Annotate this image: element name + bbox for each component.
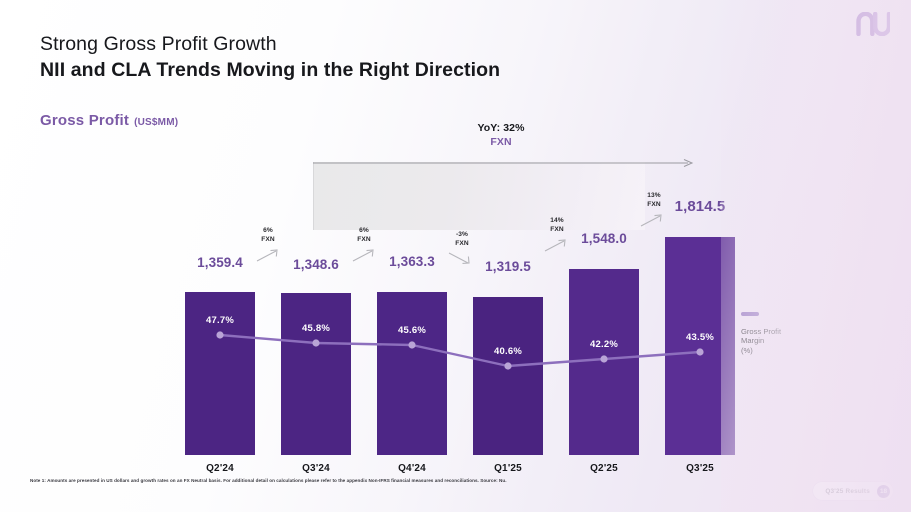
growth-trend-arrow-icon bbox=[313, 158, 698, 168]
gross-profit-chart: 47.7% 45.8% 45.6% 40.6% 42.2% 43.5% 1,35… bbox=[170, 180, 750, 455]
growth-fxn-4: FXN bbox=[537, 226, 577, 235]
growth-arrow-icon-1 bbox=[256, 248, 282, 264]
margin-label-q125: 40.6% bbox=[473, 346, 543, 357]
x-axis-label-q325: Q3'25 bbox=[645, 463, 755, 474]
growth-fxn-1: FXN bbox=[248, 236, 288, 245]
growth-value-1: 6% bbox=[248, 227, 288, 236]
legend-label-line-1: Gross Profit bbox=[741, 327, 807, 337]
x-axis-label-q125: Q1'25 bbox=[453, 463, 563, 474]
growth-annotation-q225-q325: 13% FXN bbox=[634, 192, 674, 209]
growth-arrow-icon-5 bbox=[640, 213, 666, 229]
section-label-unit: (US$MM) bbox=[134, 117, 178, 128]
legend-label-line-3: (%) bbox=[741, 346, 807, 356]
title-line-2: NII and CLA Trends Moving in the Right D… bbox=[40, 57, 500, 83]
margin-label-q424: 45.6% bbox=[377, 325, 447, 336]
growth-fxn-2: FXN bbox=[344, 236, 384, 245]
yoy-callout-sub: FXN bbox=[460, 135, 542, 149]
growth-arrow-icon-4 bbox=[544, 238, 570, 254]
footnote: Note 1: Amounts are presented in US doll… bbox=[30, 477, 650, 484]
growth-arrow-icon-2 bbox=[352, 248, 378, 264]
page-badge[interactable]: Q3'25 Results 18 bbox=[813, 482, 893, 500]
margin-label-q224: 47.7% bbox=[185, 315, 255, 326]
growth-fxn-5: FXN bbox=[634, 201, 674, 210]
section-label-main: Gross Profit bbox=[40, 112, 129, 129]
x-axis-label-q225: Q2'25 bbox=[549, 463, 659, 474]
chart-legend: Gross Profit Margin (%) bbox=[741, 312, 807, 355]
growth-value-2: 6% bbox=[344, 227, 384, 236]
x-axis-label-q224: Q2'24 bbox=[165, 463, 275, 474]
legend-label-line-2: Margin bbox=[741, 336, 807, 346]
growth-value-5: 13% bbox=[634, 192, 674, 201]
slide-canvas: Strong Gross Profit Growth NII and CLA T… bbox=[0, 0, 911, 512]
title-line-1: Strong Gross Profit Growth bbox=[40, 32, 500, 57]
growth-annotation-q224-q324: 6% FXN bbox=[248, 227, 288, 244]
growth-annotation-q424-q125: -3% FXN bbox=[442, 231, 482, 248]
growth-annotation-q324-q424: 6% FXN bbox=[344, 227, 384, 244]
yoy-callout: YoY: 32% FXN bbox=[460, 121, 542, 149]
growth-annotation-q125-q225: 14% FXN bbox=[537, 217, 577, 234]
x-axis-label-q424: Q4'24 bbox=[357, 463, 467, 474]
legend-swatch-margin-line bbox=[741, 312, 759, 316]
page-number: 18 bbox=[877, 485, 890, 498]
margin-label-q325: 43.5% bbox=[665, 332, 735, 343]
margin-label-q324: 45.8% bbox=[281, 323, 351, 334]
page-title: Strong Gross Profit Growth NII and CLA T… bbox=[40, 32, 500, 83]
margin-label-q225: 42.2% bbox=[569, 339, 639, 350]
x-axis-label-q324: Q3'24 bbox=[261, 463, 371, 474]
section-label: Gross Profit (US$MM) bbox=[40, 112, 178, 129]
yoy-callout-main: YoY: 32% bbox=[460, 121, 542, 135]
page-badge-label: Q3'25 Results bbox=[825, 488, 870, 495]
growth-arrow-icon-3 bbox=[448, 250, 474, 266]
growth-value-3: -3% bbox=[442, 231, 482, 240]
nu-logo-icon bbox=[855, 11, 891, 37]
growth-fxn-3: FXN bbox=[442, 240, 482, 249]
growth-value-4: 14% bbox=[537, 217, 577, 226]
